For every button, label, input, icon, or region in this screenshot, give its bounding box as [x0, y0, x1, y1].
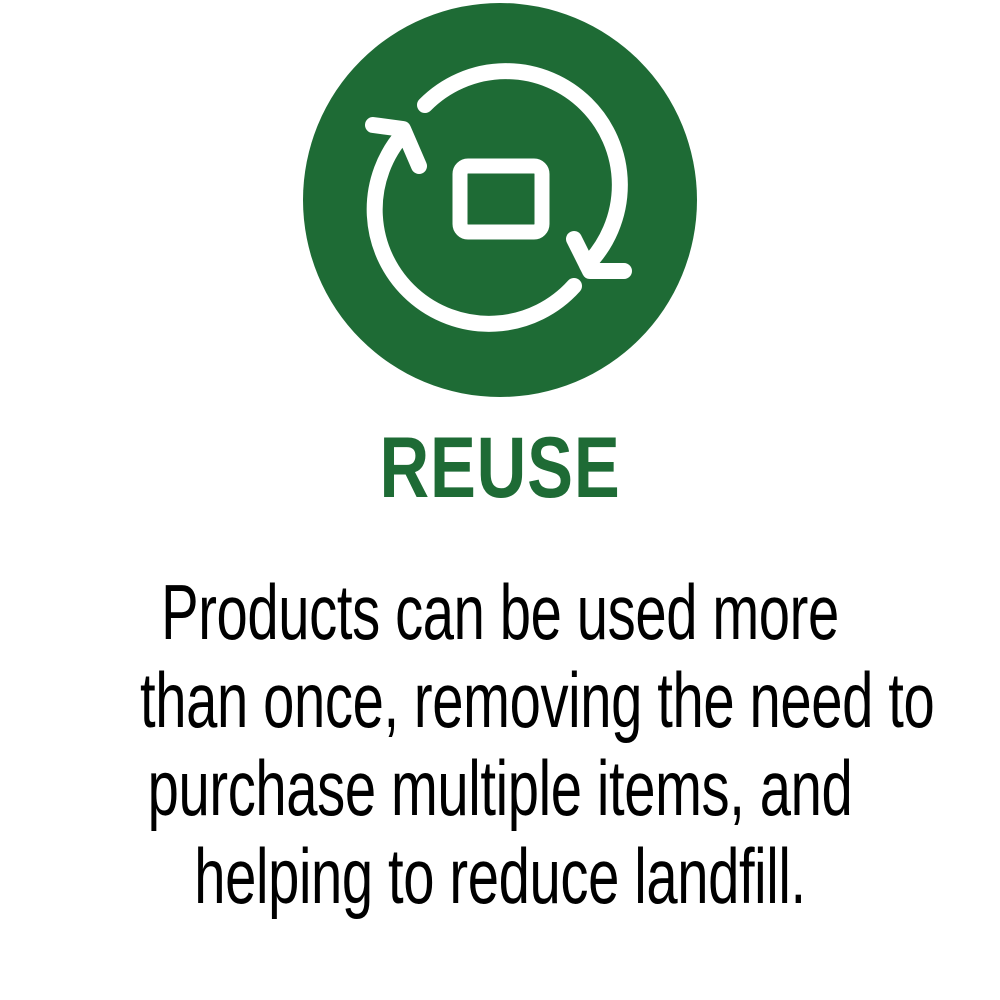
reuse-icon-badge	[303, 3, 697, 397]
description-line: than once, removing the need to	[140, 656, 860, 744]
badge-circle	[303, 3, 697, 397]
page-title: REUSE	[100, 424, 900, 512]
reuse-icon	[303, 3, 697, 397]
description-line: purchase multiple items, and	[140, 744, 860, 832]
description-line: helping to reduce landfill.	[140, 832, 860, 920]
infographic-card: REUSE Products can be used more than onc…	[0, 0, 1000, 1000]
description-text: Products can be used more than once, rem…	[0, 568, 1000, 920]
description-line: Products can be used more	[140, 568, 860, 656]
